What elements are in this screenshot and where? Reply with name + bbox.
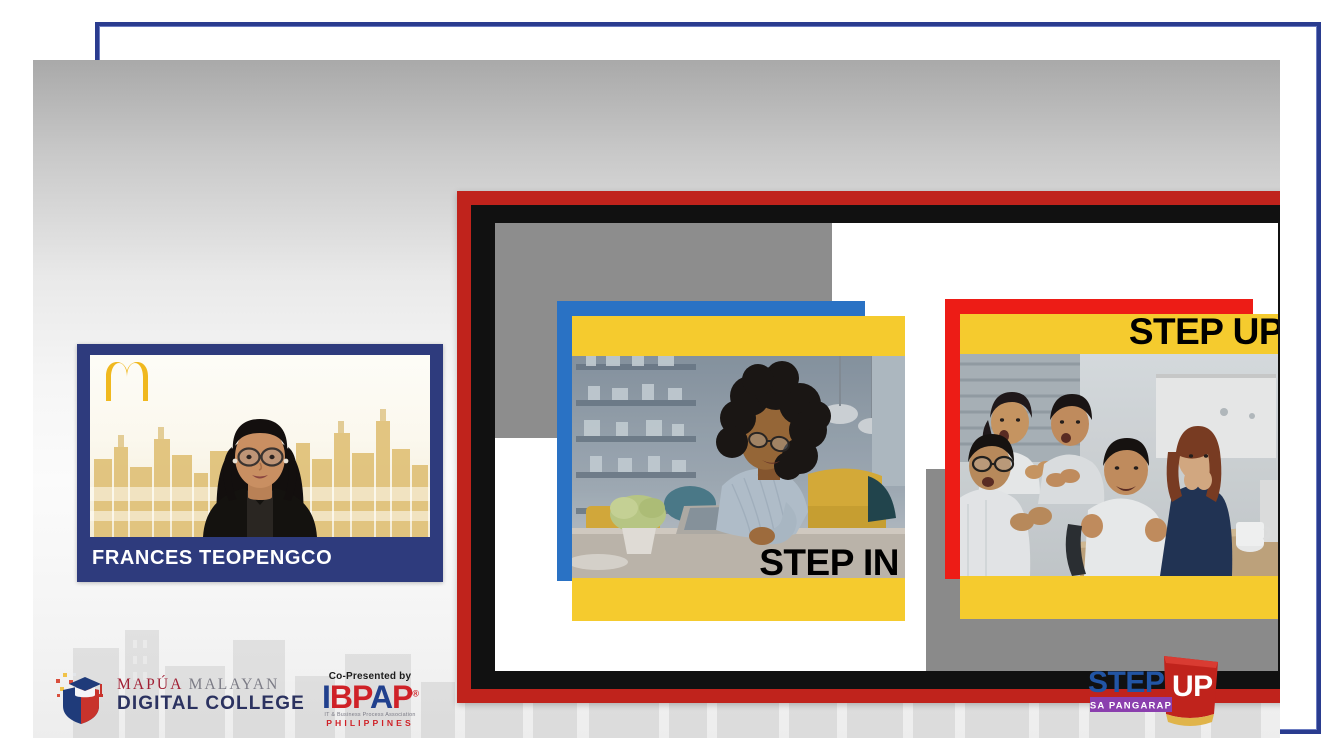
mapua-line1-secondary: MALAYAN <box>189 676 280 693</box>
speaker-name: FRANCES TEOPENGCO <box>80 547 332 570</box>
stepup-logo: SA PANGARAP STEP UP <box>1078 652 1228 730</box>
speaker-video-feed[interactable] <box>90 355 430 537</box>
mcdonalds-golden-arches-icon <box>104 361 150 401</box>
card-photo-step-up <box>960 354 1278 576</box>
mapua-logo: MAPÚA MALAYAN DIGITAL COLLEGE <box>55 668 305 724</box>
ibpap-letter-a: A <box>370 679 392 715</box>
slide-card-step-in: STEP IN <box>557 301 905 621</box>
mapua-shield-icon <box>55 668 107 724</box>
speaker-video-tile[interactable]: FRANCES TEOPENGCO <box>77 344 443 582</box>
shared-slide-frame[interactable]: STEP IN <box>457 191 1280 703</box>
footer-logo-strip: MAPÚA MALAYAN DIGITAL COLLEGE Co-Present… <box>33 643 1280 738</box>
webinar-content-panel: FRANCES TEOPENGCO <box>33 60 1280 738</box>
slide-inner-bezel: STEP IN <box>471 205 1280 689</box>
ibpap-letter-b: B <box>330 679 352 715</box>
ibpap-letter-i: I <box>322 679 330 715</box>
ibpap-logo: Co-Presented by IBPAP® IT & Business Pro… <box>305 671 435 728</box>
ibpap-registered-mark: ® <box>412 688 418 698</box>
ibpap-letter-p2: P <box>392 679 412 715</box>
screen-root: FRANCES TEOPENGCO <box>0 0 1333 755</box>
speaker-avatar <box>185 389 335 537</box>
stepup-up-text: UP <box>1172 670 1213 703</box>
slide-card-step-up: STEP UP <box>945 299 1278 619</box>
mapua-line1-primary: MAPÚA <box>117 676 183 693</box>
mapua-line2: DIGITAL COLLEGE <box>117 694 305 715</box>
bottom-white-strip <box>0 738 1333 755</box>
ibpap-letter-p1: P <box>352 679 370 715</box>
stepup-step-text: STEP <box>1088 666 1164 699</box>
card-caption-step-in: STEP IN <box>759 544 899 581</box>
ibpap-country: PHILIPPINES <box>305 718 435 728</box>
slide-canvas: STEP IN <box>495 223 1278 671</box>
speaker-name-bar: FRANCES TEOPENGCO <box>80 537 440 579</box>
stepup-tagline-text: SA PANGARAP <box>1090 701 1172 712</box>
card-caption-step-up: STEP UP <box>1129 313 1278 350</box>
